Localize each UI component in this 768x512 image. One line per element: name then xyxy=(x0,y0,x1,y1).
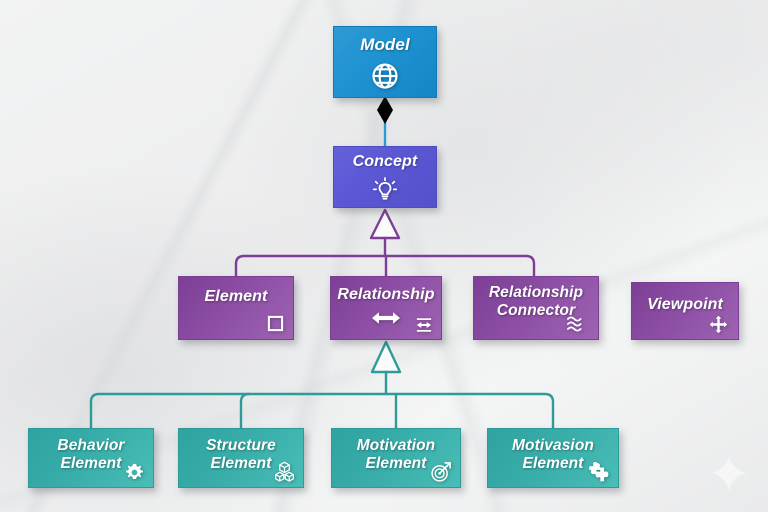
cubes-icon xyxy=(274,461,295,483)
sparkle-icon xyxy=(708,452,750,494)
target-icon xyxy=(430,461,452,483)
node-viewpoint[interactable]: Viewpoint xyxy=(631,282,739,340)
edge-model-to-concept xyxy=(377,96,393,146)
node-relationship-label: Relationship xyxy=(331,286,441,305)
node-model-label: Model xyxy=(334,35,436,55)
edge-relationship-subclasses xyxy=(91,342,553,428)
generalization-bus-relationship xyxy=(91,394,553,428)
node-viewpoint-label: Viewpoint xyxy=(632,296,738,315)
lightbulb-icon xyxy=(372,177,398,203)
square-icon xyxy=(267,315,284,332)
generalization-triangle-concept xyxy=(371,210,399,238)
node-element-label: Element xyxy=(179,288,293,307)
node-relationship[interactable]: Relationship xyxy=(330,276,442,340)
node-relationship-connector[interactable]: Relationship Connector xyxy=(473,276,599,340)
cross-arrows-icon xyxy=(709,315,728,334)
globe-icon xyxy=(370,61,400,91)
arrow-between-lines-icon xyxy=(415,317,433,333)
node-structure-element[interactable]: Structure Element xyxy=(178,428,304,488)
diagram-canvas: Model Concept xyxy=(0,0,768,512)
node-concept-label: Concept xyxy=(334,153,436,172)
puzzle-piece-icon xyxy=(589,462,610,483)
generalization-drop-structure xyxy=(241,394,249,428)
node-element[interactable]: Element xyxy=(178,276,294,340)
edge-concept-subclasses xyxy=(236,210,534,276)
node-motivation-element[interactable]: Motivation Element xyxy=(331,428,461,488)
waves-icon xyxy=(566,314,588,334)
composition-diamond-icon xyxy=(377,96,393,124)
node-model[interactable]: Model xyxy=(333,26,437,98)
node-concept[interactable]: Concept xyxy=(333,146,437,208)
node-motivasion-element[interactable]: Motivasion Element xyxy=(487,428,619,488)
double-arrow-icon xyxy=(371,310,401,326)
node-behavior-element[interactable]: Behavior Element xyxy=(28,428,154,488)
generalization-triangle-relationship xyxy=(372,342,400,372)
gear-icon xyxy=(124,462,145,483)
